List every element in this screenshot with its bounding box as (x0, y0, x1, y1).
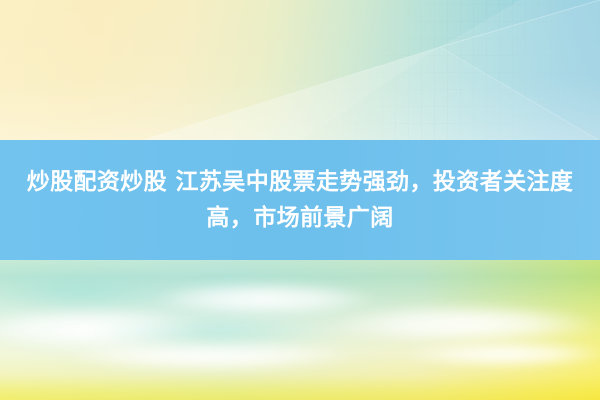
cloud-shape (330, 304, 600, 344)
diagonal-facet-shapes (0, 0, 600, 141)
cloud-shape (60, 338, 360, 372)
cloud-shape (0, 306, 210, 352)
bottom-gradient-background (0, 260, 600, 400)
cloud-tint-shape (0, 272, 180, 312)
cloud-tint-shape (90, 316, 350, 350)
cloud-shape (400, 340, 600, 368)
stock-news-banner: 炒股配资炒股 江苏吴中股票走势强劲，投资者关注度高，市场前景广阔 (0, 0, 600, 400)
headline-band: 炒股配资炒股 江苏吴中股票走势强劲，投资者关注度高，市场前景广阔 (0, 140, 600, 260)
banner-headline: 炒股配资炒股 江苏吴中股票走势强劲，投资者关注度高，市场前景广阔 (22, 164, 578, 236)
cloud-shape (150, 282, 380, 316)
